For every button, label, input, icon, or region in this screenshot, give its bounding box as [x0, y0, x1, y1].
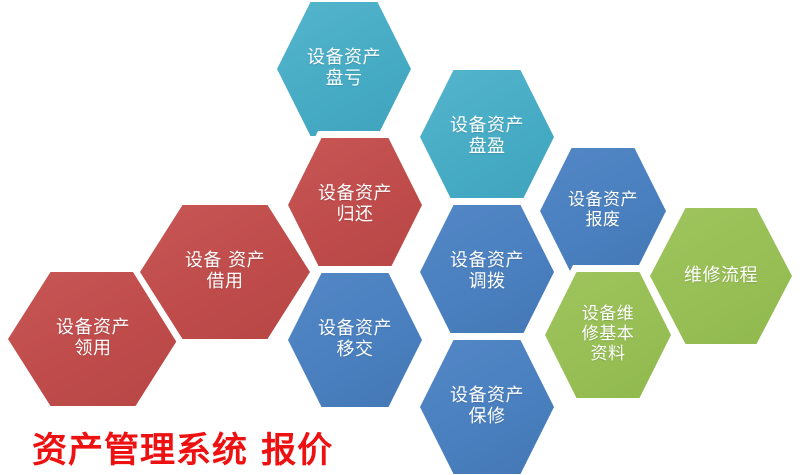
hexagon-label: 设备维 修基本 资料: [568, 305, 649, 364]
hexagon-label: 设备资产 移交: [304, 319, 406, 361]
page-caption: 资产管理系统 报价: [32, 434, 333, 469]
hexagon-label: 维修流程: [670, 266, 772, 287]
hexagon-label: 设备 资产 借用: [171, 251, 279, 293]
hexagon-label: 设备资产 归还: [304, 184, 406, 226]
hexagon-label: 设备资产 领用: [42, 318, 144, 360]
hexagon-label: 设备资产 报废: [554, 191, 652, 230]
hexagon-label: 设备资产 盘盈: [436, 116, 538, 158]
hexagon-label: 设备资产 盘亏: [293, 48, 395, 90]
hexagon-label: 设备资产 调拨: [436, 251, 538, 293]
diagram-canvas: 设备资产 领用设备 资产 借用设备资产 盘亏设备资产 归还设备资产 移交设备资产…: [0, 0, 800, 475]
hexagon-label: 设备资产 保修: [436, 386, 538, 428]
